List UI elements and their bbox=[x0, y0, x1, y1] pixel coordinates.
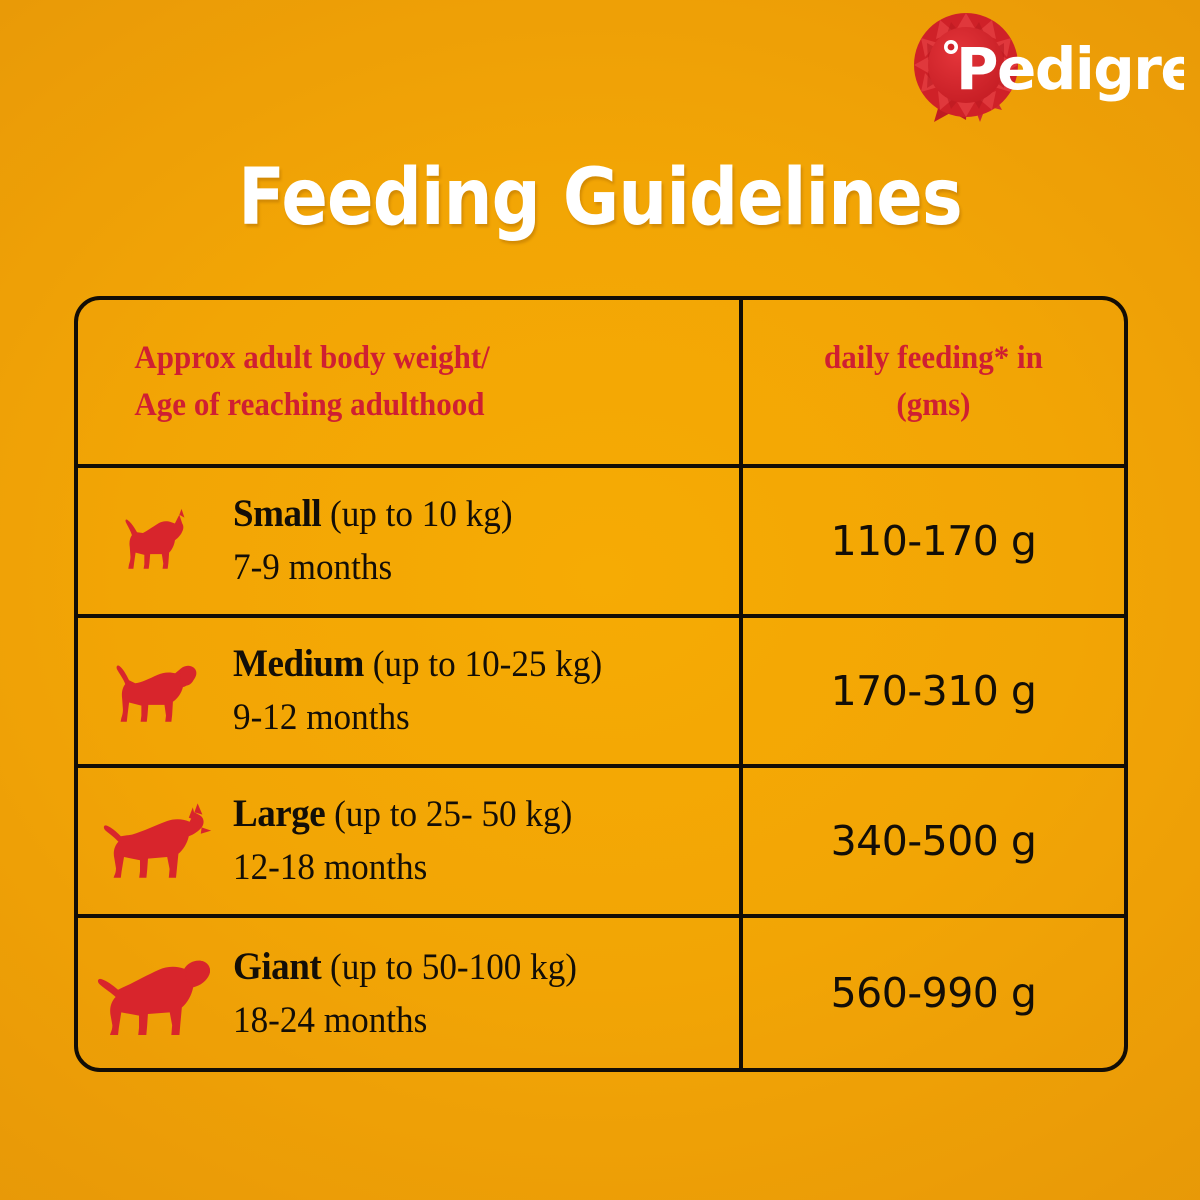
row-medium-amount-cell: 170-310 g bbox=[743, 618, 1124, 764]
large-dog-icon bbox=[78, 801, 233, 881]
pedigree-rosette-logo: Pedigree bbox=[894, 10, 1184, 122]
row-medium-text: Medium (up to 10-25 kg) 9-12 months bbox=[233, 637, 602, 744]
table-header-row: Approx adult body weight/ Age of reachin… bbox=[78, 300, 1124, 468]
row-medium-age: 9-12 months bbox=[233, 691, 602, 744]
feeding-guidelines-page: Pedigree Feeding Guidelines Approx adult… bbox=[0, 0, 1200, 1200]
row-large-size: Large bbox=[233, 792, 325, 835]
row-large-info: Large (up to 25- 50 kg) 12-18 months bbox=[78, 768, 743, 914]
row-small-size: Small bbox=[233, 492, 321, 535]
header-daily-feeding-line1: daily feeding* in bbox=[824, 335, 1043, 382]
row-giant-age: 18-24 months bbox=[233, 994, 577, 1047]
pedigree-wordmark: Pedigree bbox=[956, 35, 1184, 103]
header-daily-feeding-line2: (gms) bbox=[824, 382, 1043, 429]
row-large-weight: (up to 25- 50 kg) bbox=[334, 794, 572, 835]
row-large-amount-cell: 340-500 g bbox=[743, 768, 1124, 914]
row-small-amount-cell: 110-170 g bbox=[743, 468, 1124, 614]
row-giant-info: Giant (up to 50-100 kg) 18-24 months bbox=[78, 918, 743, 1068]
row-medium-amount: 170-310 g bbox=[831, 667, 1037, 715]
medium-dog-icon bbox=[78, 654, 233, 728]
small-dog-icon bbox=[78, 506, 233, 576]
row-giant-amount: 560-990 g bbox=[831, 969, 1037, 1017]
header-weight-age-line2: Age of reaching adulthood bbox=[134, 382, 489, 429]
row-giant-text: Giant (up to 50-100 kg) 18-24 months bbox=[233, 940, 577, 1047]
table-row: Giant (up to 50-100 kg) 18-24 months 560… bbox=[78, 918, 1124, 1068]
row-small-weight: (up to 10 kg) bbox=[330, 494, 513, 535]
table-row: Small (up to 10 kg) 7-9 months 110-170 g bbox=[78, 468, 1124, 618]
table-row: Medium (up to 10-25 kg) 9-12 months 170-… bbox=[78, 618, 1124, 768]
feeding-guidelines-table: Approx adult body weight/ Age of reachin… bbox=[74, 296, 1128, 1072]
page-title: Feeding Guidelines bbox=[72, 156, 1128, 240]
row-giant-size: Giant bbox=[233, 945, 321, 988]
header-cell-daily-feeding: daily feeding* in (gms) bbox=[743, 300, 1124, 464]
row-medium-size: Medium bbox=[233, 642, 364, 685]
row-small-age: 7-9 months bbox=[233, 541, 513, 594]
row-medium-info: Medium (up to 10-25 kg) 9-12 months bbox=[78, 618, 743, 764]
row-large-text: Large (up to 25- 50 kg) 12-18 months bbox=[233, 787, 572, 894]
row-medium-weight: (up to 10-25 kg) bbox=[373, 644, 602, 685]
row-small-amount: 110-170 g bbox=[831, 517, 1037, 565]
row-small-text: Small (up to 10 kg) 7-9 months bbox=[233, 487, 513, 594]
table-row: Large (up to 25- 50 kg) 12-18 months 340… bbox=[78, 768, 1124, 918]
row-giant-amount-cell: 560-990 g bbox=[743, 918, 1124, 1068]
header-weight-age-line1: Approx adult body weight/ bbox=[134, 335, 489, 382]
header-cell-weight-age: Approx adult body weight/ Age of reachin… bbox=[78, 300, 743, 464]
giant-dog-icon bbox=[78, 951, 233, 1035]
row-giant-weight: (up to 50-100 kg) bbox=[330, 947, 577, 988]
row-large-age: 12-18 months bbox=[233, 841, 572, 894]
row-large-amount: 340-500 g bbox=[831, 817, 1037, 865]
row-small-info: Small (up to 10 kg) 7-9 months bbox=[78, 468, 743, 614]
